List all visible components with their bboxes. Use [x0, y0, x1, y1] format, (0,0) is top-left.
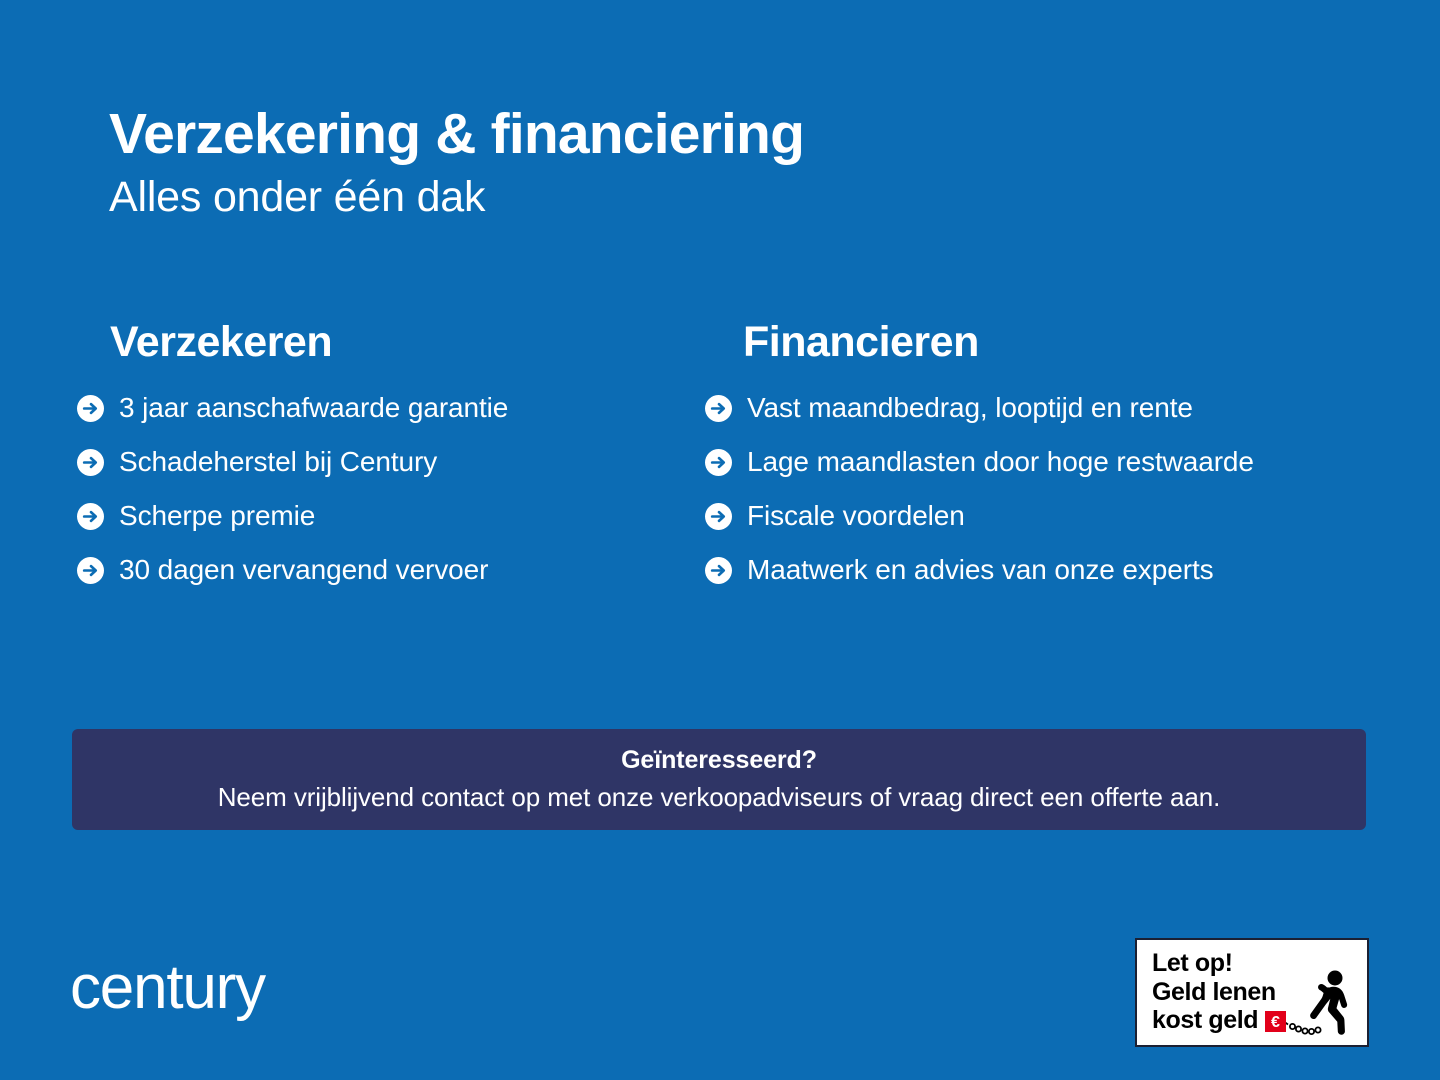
list-item: Vast maandbedrag, looptijd en rente	[705, 394, 1405, 422]
credit-warning-badge: Let op! Geld lenen kost geld	[1135, 938, 1369, 1047]
list-item-label: Fiscale voordelen	[747, 502, 965, 530]
credit-warning-text: Let op! Geld lenen kost geld	[1152, 949, 1276, 1035]
list-item-label: 30 dagen vervangend vervoer	[119, 556, 488, 584]
list-item: 3 jaar aanschafwaarde garantie	[77, 394, 697, 422]
cta-banner: Geïnteresseerd? Neem vrijblijvend contac…	[72, 729, 1366, 830]
arrow-right-circle-icon	[705, 503, 732, 530]
list-item: Fiscale voordelen	[705, 502, 1405, 530]
page-title: Verzekering & financiering	[109, 104, 1309, 164]
column-heading-verzekeren: Verzekeren	[77, 318, 697, 367]
arrow-right-circle-icon	[705, 395, 732, 422]
page-subtitle: Alles onder één dak	[109, 173, 1309, 221]
walking-person-pulling-euro-ball-and-chain-icon: €	[1263, 961, 1361, 1041]
list-item-label: 3 jaar aanschafwaarde garantie	[119, 394, 508, 422]
list-item-label: Vast maandbedrag, looptijd en rente	[747, 394, 1193, 422]
arrow-right-circle-icon	[705, 557, 732, 584]
column-heading-financieren: Financieren	[705, 318, 1405, 367]
cta-text: Neem vrijblijvend contact op met onze ve…	[218, 782, 1220, 813]
feature-columns: Verzekeren 3 jaar aanschafwaarde garanti…	[0, 318, 1440, 608]
header: Verzekering & financiering Alles onder é…	[109, 104, 1309, 222]
credit-warning-inner: Let op! Geld lenen kost geld	[1137, 940, 1367, 1045]
list-item: Maatwerk en advies van onze experts	[705, 556, 1405, 584]
list-item-label: Schadeherstel bij Century	[119, 448, 437, 476]
credit-warning-line-2: Geld lenen	[1152, 978, 1276, 1007]
arrow-right-circle-icon	[77, 449, 104, 476]
feature-list-verzekeren: 3 jaar aanschafwaarde garantie Schadeher…	[77, 394, 697, 584]
arrow-right-circle-icon	[77, 557, 104, 584]
arrow-right-circle-icon	[77, 395, 104, 422]
century-logo: century	[70, 957, 265, 1019]
arrow-right-circle-icon	[77, 503, 104, 530]
list-item-label: Scherpe premie	[119, 502, 315, 530]
list-item: Scherpe premie	[77, 502, 697, 530]
list-item-label: Maatwerk en advies van onze experts	[747, 556, 1214, 584]
list-item: Lage maandlasten door hoge restwaarde	[705, 448, 1405, 476]
credit-warning-line-3: kost geld	[1152, 1006, 1276, 1035]
cta-title: Geïnteresseerd?	[621, 746, 817, 775]
slide-root: Verzekering & financiering Alles onder é…	[0, 0, 1440, 1080]
arrow-right-circle-icon	[705, 449, 732, 476]
column-financieren: Financieren Vast maandbedrag, looptijd e…	[705, 318, 1405, 584]
list-item: Schadeherstel bij Century	[77, 448, 697, 476]
list-item: 30 dagen vervangend vervoer	[77, 556, 697, 584]
euro-symbol: €	[1271, 1014, 1280, 1031]
feature-list-financieren: Vast maandbedrag, looptijd en rente Lage…	[705, 394, 1405, 584]
credit-warning-line-1: Let op!	[1152, 949, 1276, 978]
list-item-label: Lage maandlasten door hoge restwaarde	[747, 448, 1254, 476]
column-verzekeren: Verzekeren 3 jaar aanschafwaarde garanti…	[77, 318, 697, 584]
